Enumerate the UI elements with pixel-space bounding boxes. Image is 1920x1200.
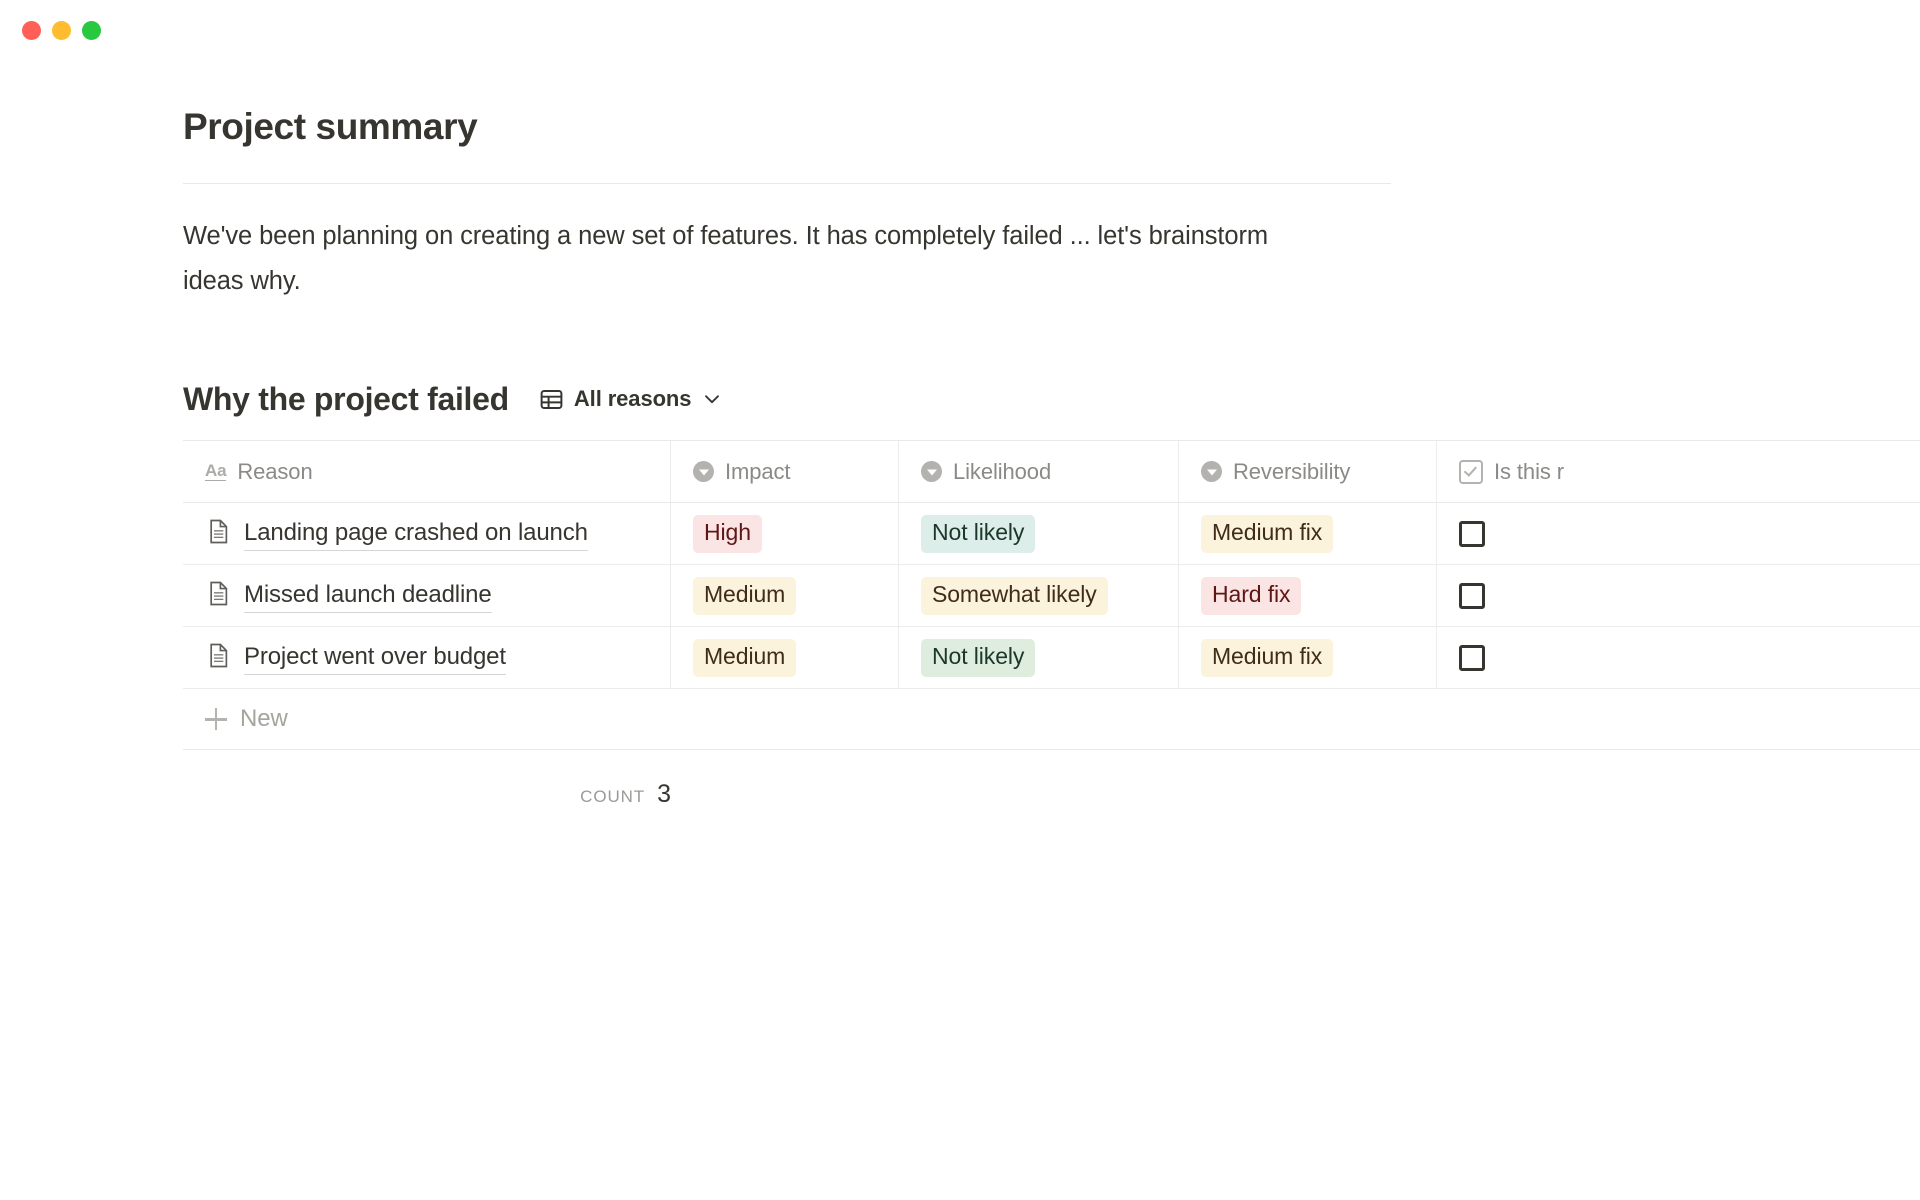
column-label: Likelihood [953,459,1051,485]
view-switcher[interactable]: All reasons [533,382,730,416]
reversibility-pill[interactable]: Medium fix [1201,515,1333,553]
traffic-light-buttons [22,21,101,40]
reason-title-link[interactable]: Landing page crashed on launch [244,517,588,550]
maximize-button-icon[interactable] [82,21,101,40]
count-value: 3 [657,780,671,809]
column-header-likelihood[interactable]: Likelihood [899,441,1179,502]
likelihood-pill[interactable]: Not likely [921,639,1035,677]
count-label: COUNT [580,787,645,807]
is-resolved-checkbox[interactable] [1459,521,1485,547]
cell-reason[interactable]: Landing page crashed on launch [183,503,671,564]
table-row[interactable]: Project went over budget Medium Not like… [183,627,1920,689]
checkbox-icon [1459,460,1483,484]
database-title[interactable]: Why the project failed [183,383,509,415]
page-document-icon [205,518,232,550]
new-row-button[interactable]: New [183,689,1920,750]
impact-pill[interactable]: Medium [693,577,796,615]
column-header-reason[interactable]: Aa Reason [183,441,671,502]
table-row[interactable]: Missed launch deadline Medium Somewhat l… [183,565,1920,627]
reason-title-link[interactable]: Project went over budget [244,641,506,674]
chevron-down-icon [701,388,723,410]
cell-likelihood[interactable]: Somewhat likely [899,565,1179,626]
column-label: Is this r [1494,459,1564,485]
table-row[interactable]: Landing page crashed on launch High Not … [183,503,1920,565]
plus-icon [205,708,227,730]
reason-title-link[interactable]: Missed launch deadline [244,579,492,612]
text-aa-icon: Aa [205,462,226,481]
page-document-icon [205,580,232,612]
impact-pill[interactable]: High [693,515,762,553]
window-titlebar [0,0,1920,60]
cell-reversibility[interactable]: Hard fix [1179,565,1437,626]
select-icon [693,461,714,482]
column-header-is-resolved[interactable]: Is this r [1437,441,1920,502]
view-name-label: All reasons [574,386,692,412]
cell-impact[interactable]: Medium [671,565,899,626]
is-resolved-checkbox[interactable] [1459,583,1485,609]
column-label: Reason [237,459,312,485]
column-label: Impact [725,459,790,485]
cell-reversibility[interactable]: Medium fix [1179,503,1437,564]
table-footer-count[interactable]: COUNT 3 [183,780,671,809]
reversibility-pill[interactable]: Hard fix [1201,577,1301,615]
select-icon [921,461,942,482]
likelihood-pill[interactable]: Somewhat likely [921,577,1108,615]
page-document-icon [205,642,232,674]
likelihood-pill[interactable]: Not likely [921,515,1035,553]
table-icon [539,387,564,412]
cell-impact[interactable]: High [671,503,899,564]
is-resolved-checkbox[interactable] [1459,645,1485,671]
page-title[interactable]: Project summary [183,105,1920,149]
column-label: Reversibility [1233,459,1350,485]
summary-paragraph[interactable]: We've been planning on creating a new se… [183,214,1293,304]
new-row-label: New [240,705,288,733]
cell-reversibility[interactable]: Medium fix [1179,627,1437,688]
page-content: Project summary We've been planning on c… [0,105,1920,809]
impact-pill[interactable]: Medium [693,639,796,677]
cell-impact[interactable]: Medium [671,627,899,688]
select-icon [1201,461,1222,482]
reversibility-pill[interactable]: Medium fix [1201,639,1333,677]
cell-reason[interactable]: Project went over budget [183,627,671,688]
column-header-impact[interactable]: Impact [671,441,899,502]
close-button-icon[interactable] [22,21,41,40]
title-divider [183,183,1391,184]
cell-likelihood[interactable]: Not likely [899,503,1179,564]
cell-reason[interactable]: Missed launch deadline [183,565,671,626]
database-header: Why the project failed All reasons [183,382,1920,416]
cell-is-resolved[interactable] [1437,565,1920,626]
column-header-reversibility[interactable]: Reversibility [1179,441,1437,502]
table-header-row: Aa Reason Impact Likelihood Reversibilit… [183,441,1920,503]
reasons-table: Aa Reason Impact Likelihood Reversibilit… [183,440,1920,750]
cell-likelihood[interactable]: Not likely [899,627,1179,688]
cell-is-resolved[interactable] [1437,627,1920,688]
minimize-button-icon[interactable] [52,21,71,40]
cell-is-resolved[interactable] [1437,503,1920,564]
